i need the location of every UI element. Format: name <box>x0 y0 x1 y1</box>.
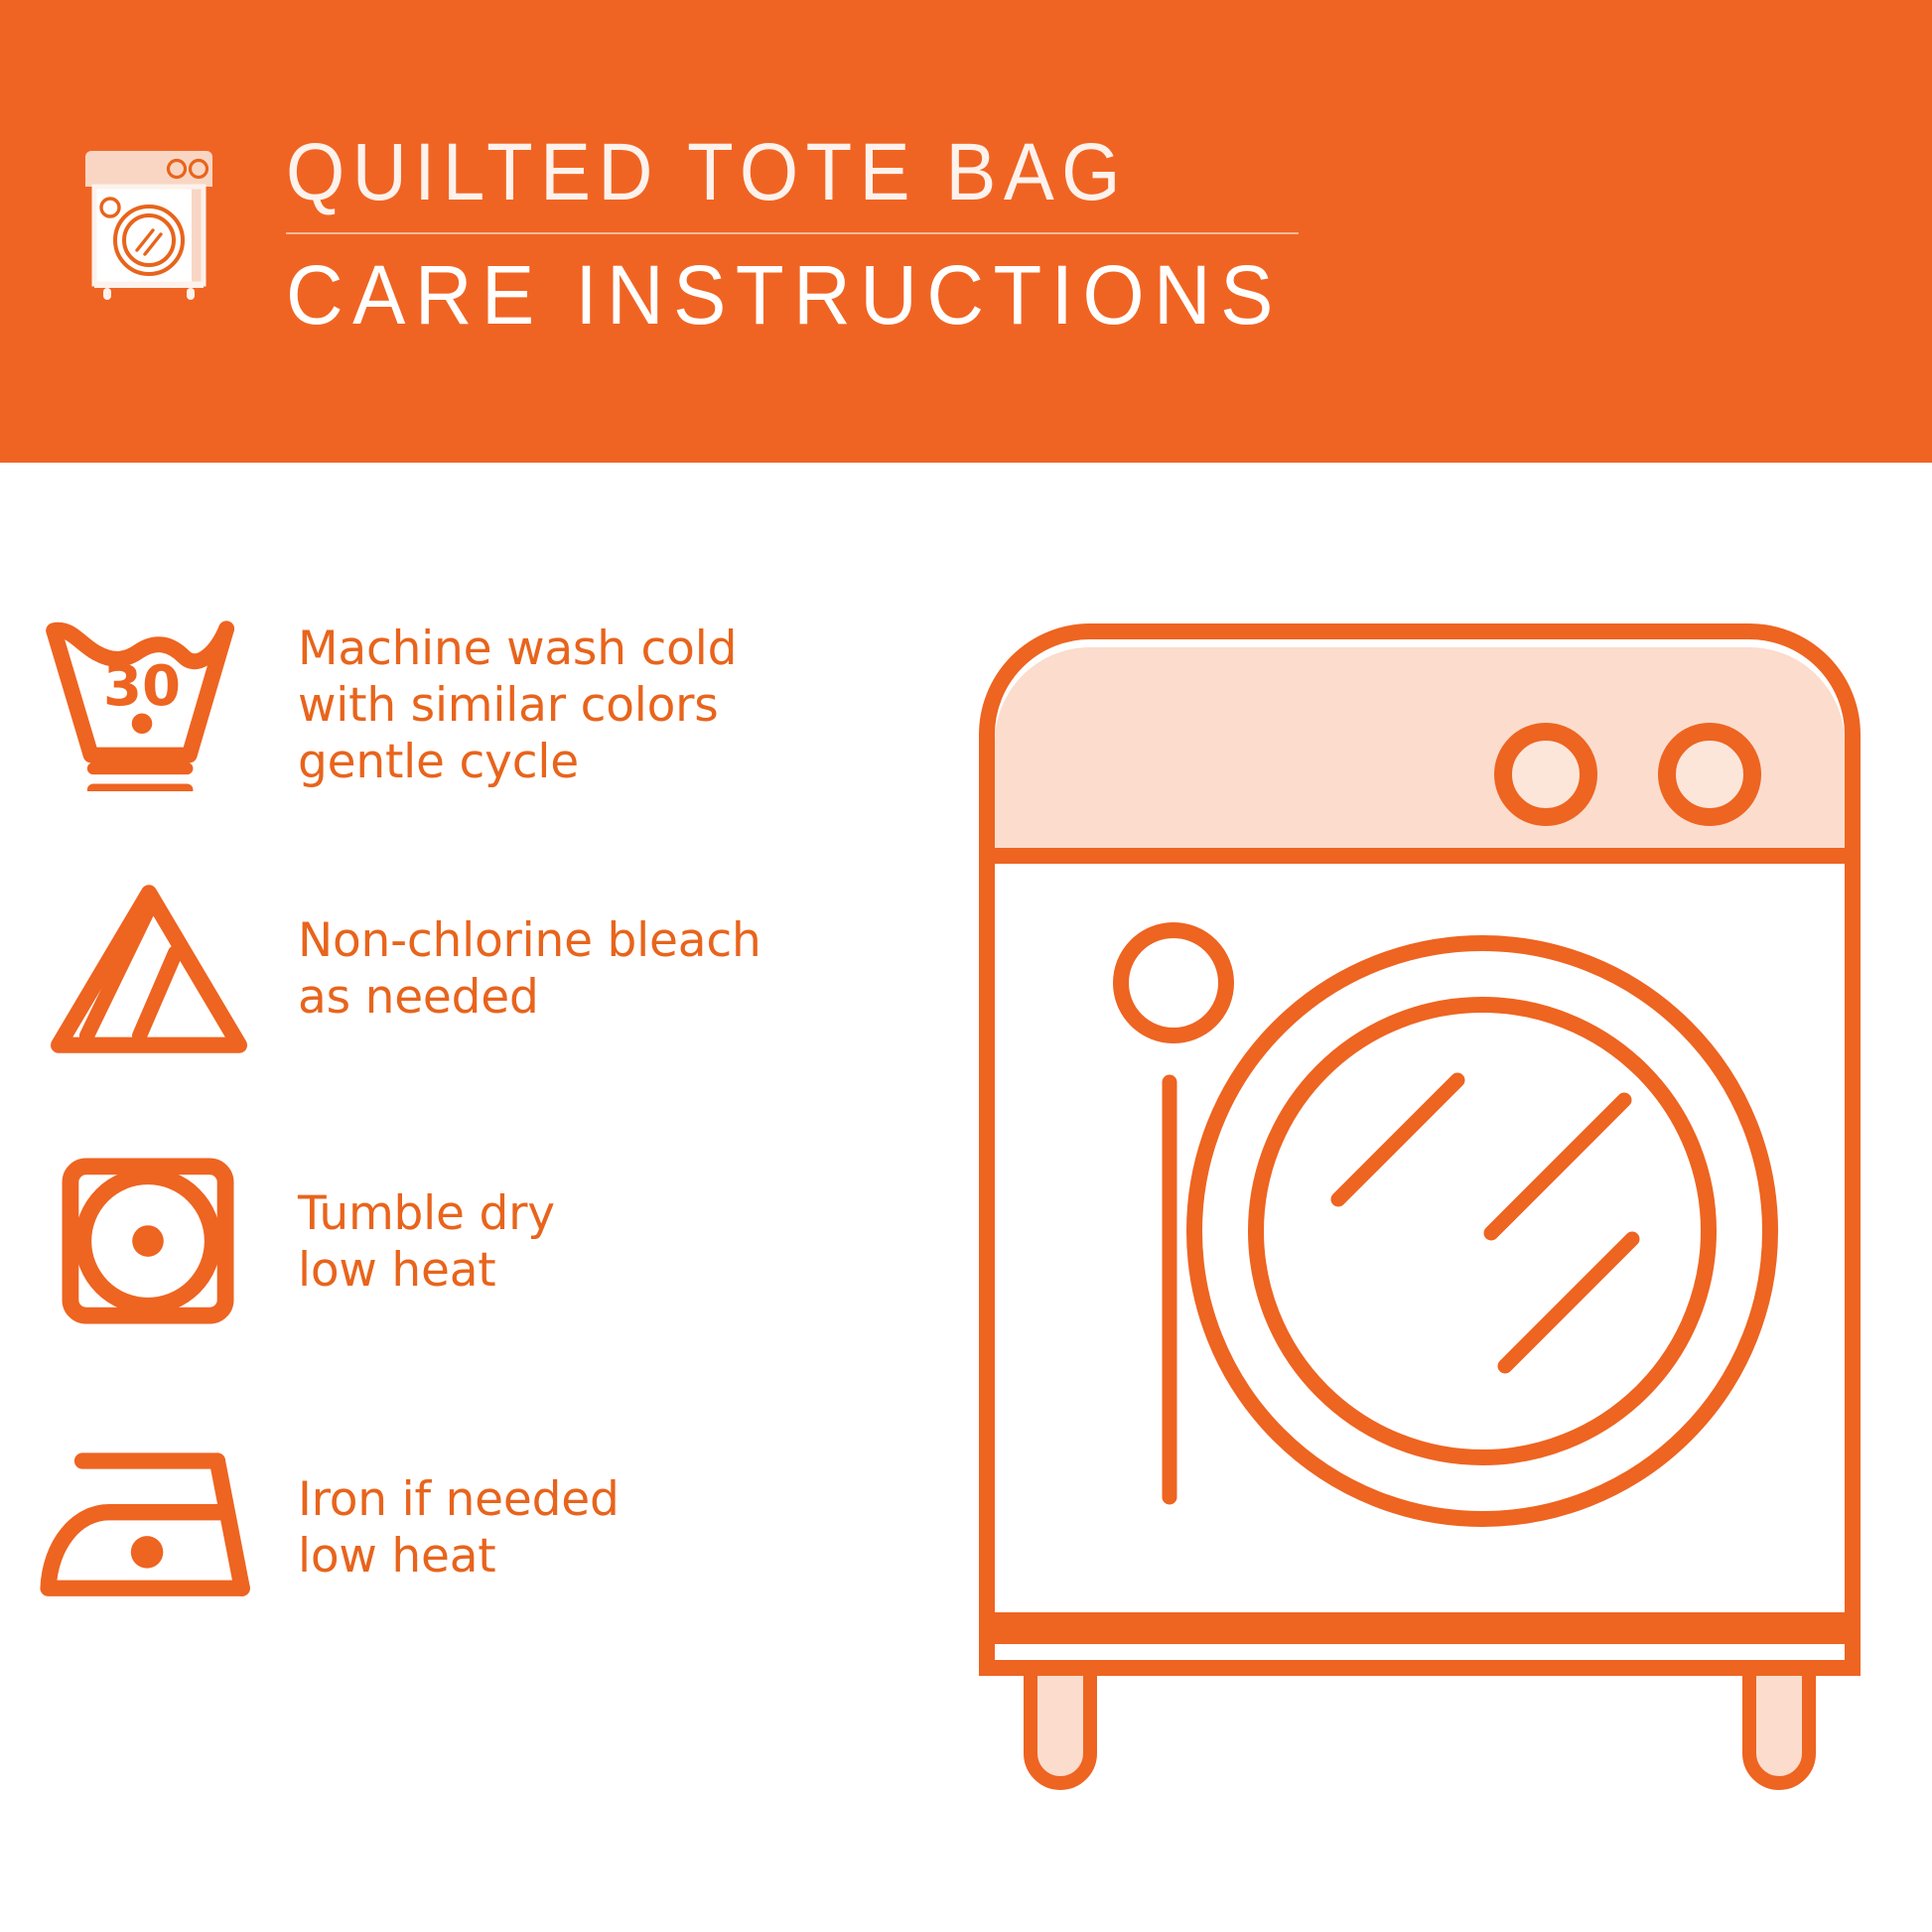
care-line: low heat <box>298 1528 620 1585</box>
care-line: gentle cycle <box>298 734 737 790</box>
care-line: low heat <box>298 1242 555 1299</box>
washer-detergent-port <box>1121 930 1226 1035</box>
washer-knob-left <box>1503 732 1588 817</box>
care-text-iron: Iron if needed low heat <box>298 1471 620 1585</box>
wash-temperature-label: 30 <box>102 654 180 719</box>
page-title: QUILTED TOTE BAG <box>286 127 1209 218</box>
iron-low-heat-icon <box>0 1446 298 1609</box>
tumble-dry-low-icon <box>0 1158 298 1326</box>
care-line: Non-chlorine bleach <box>298 912 761 969</box>
page-subtitle: CARE INSTRUCTIONS <box>286 248 1229 342</box>
title-divider <box>286 232 1299 234</box>
non-chlorine-bleach-icon <box>0 880 298 1058</box>
care-line: Machine wash cold <box>298 621 737 677</box>
care-instruction-list: 30 Machine wash cold with similar colors… <box>0 463 913 1932</box>
care-line: Tumble dry <box>298 1185 555 1242</box>
header-banner: QUILTED TOTE BAG CARE INSTRUCTIONS <box>0 0 1932 463</box>
list-item: Tumble dry low heat <box>0 1158 913 1326</box>
header-text-block: QUILTED TOTE BAG CARE INSTRUCTIONS <box>286 127 1279 342</box>
list-item: Iron if needed low heat <box>0 1446 913 1609</box>
care-line: Iron if needed <box>298 1471 620 1528</box>
care-instructions-poster: QUILTED TOTE BAG CARE INSTRUCTIONS 30 <box>0 0 1932 1932</box>
care-text-dry: Tumble dry low heat <box>298 1185 555 1299</box>
care-text-wash: Machine wash cold with similar colors ge… <box>298 621 737 790</box>
care-line: with similar colors <box>298 677 737 734</box>
list-item: 30 Machine wash cold with similar colors… <box>0 620 913 791</box>
machine-wash-30-gentle-icon: 30 <box>0 620 298 791</box>
list-item: Non-chlorine bleach as needed <box>0 880 913 1058</box>
care-line: as needed <box>298 969 761 1026</box>
washing-machine-illustration <box>953 596 1906 1827</box>
care-text-bleach: Non-chlorine bleach as needed <box>298 912 761 1026</box>
washing-machine-icon <box>83 137 214 300</box>
washer-knob-right <box>1667 732 1752 817</box>
